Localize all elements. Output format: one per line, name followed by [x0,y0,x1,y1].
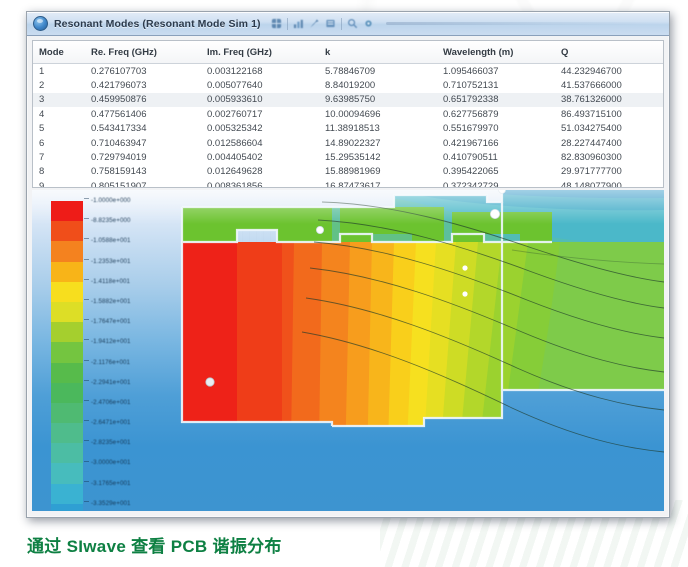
legend-tick [84,481,89,482]
legend-label: -3.1765e+001 [91,474,147,494]
table-row[interactable]: 70.7297940190.00440540215.295351420.4107… [33,150,664,164]
cell-re-freq: 0.459950876 [85,93,201,107]
legend-color-bar [51,201,83,511]
table-row[interactable]: 40.4775614060.00276071710.000946960.6277… [33,107,664,121]
table-row[interactable]: 10.2761077030.0031221685.788467091.09546… [33,64,664,79]
table-row[interactable]: 50.5434173340.00532534211.389185130.5516… [33,122,664,136]
window-title: Resonant Modes (Resonant Mode Sim 1) [54,18,261,30]
table-row[interactable]: 90.8051519070.00836185616.874736170.3723… [33,179,664,188]
cell-k: 15.88981969 [319,165,437,179]
legend-swatch [51,383,83,403]
cell-wavelength: 0.551679970 [437,122,555,136]
resonance-field-plot[interactable]: -1.0000e+000-8.8235e+000-1.0588e+001-1.2… [32,190,664,511]
cell-k: 11.38918513 [319,122,437,136]
cell-q: 48.148077900 [555,179,664,188]
cell-q: 41.537666000 [555,78,664,92]
cell-q: 86.493715100 [555,107,664,121]
table-body: 10.2761077030.0031221685.788467091.09546… [33,64,664,189]
window-titlebar[interactable]: Resonant Modes (Resonant Mode Sim 1) [27,12,669,36]
legend-swatch [51,282,83,302]
cell-q: 38.761326000 [555,93,664,107]
legend-label: -8.8235e+000 [91,211,147,231]
cell-re-freq: 0.276107703 [85,64,201,79]
column-header-q[interactable]: Q [555,41,664,64]
cell-k: 9.63985750 [319,93,437,107]
titlebar-toolbar[interactable] [271,18,374,30]
legend-tick [84,339,89,340]
legend-label: -2.2941e+001 [91,373,147,393]
legend-label: -1.4118e+001 [91,272,147,292]
legend-swatch [51,443,83,463]
legend-label: -1.2353e+001 [91,252,147,272]
legend-tick [84,461,89,462]
resonant-modes-window: Resonant Modes (Resonant Mode Sim 1) [26,11,670,518]
cell-k: 16.87473617 [319,179,437,188]
cell-k: 15.29535142 [319,150,437,164]
legend-swatch [51,302,83,322]
cell-im-freq: 0.004405402 [201,150,319,164]
figure-caption: 通过 SIwave 查看 PCB 谐振分布 [27,532,547,557]
legend-swatch [51,423,83,443]
cell-q: 82.830960300 [555,150,664,164]
cell-wavelength: 0.421967166 [437,136,555,150]
cell-q: 29.971777700 [555,165,664,179]
legend-label: -2.4706e+001 [91,393,147,413]
settings-icon[interactable] [363,18,374,29]
legend-tick [84,440,89,441]
cell-wavelength: 1.095466037 [437,64,555,79]
cell-k: 14.89022327 [319,136,437,150]
legend-swatch [51,484,83,504]
cell-wavelength: 0.627756879 [437,107,555,121]
legend-swatch [51,342,83,362]
legend-swatch [51,201,83,221]
cell-im-freq: 0.012649628 [201,165,319,179]
table-header-row: Mode Re. Freq (GHz) Im. Freq (GHz) k Wav… [33,41,664,64]
column-header-im-freq[interactable]: Im. Freq (GHz) [201,41,319,64]
cell-wavelength: 0.710752131 [437,78,555,92]
cell-mode: 6 [33,136,85,150]
column-header-wavelength[interactable]: Wavelength (m) [437,41,555,64]
legend-tick [84,319,89,320]
export-icon[interactable] [325,18,336,29]
toolbar-separator [287,18,288,30]
legend-label: -1.5882e+001 [91,292,147,312]
port-marker-1 [206,378,214,386]
legend-tick [84,380,89,381]
column-header-k[interactable]: k [319,41,437,64]
cell-re-freq: 0.477561406 [85,107,201,121]
legend-label: -3.0000e+001 [91,453,147,473]
cell-re-freq: 0.805151907 [85,179,201,188]
cell-q: 28.227447400 [555,136,664,150]
cell-re-freq: 0.758159143 [85,165,201,179]
cell-mode: 7 [33,150,85,164]
cell-mode: 2 [33,78,85,92]
legend-swatch [51,403,83,423]
table-row[interactable]: 30.4599508760.0059336109.639857500.65179… [33,93,664,107]
port-marker-6 [462,291,467,296]
legend-label: -1.0000e+000 [91,191,147,211]
legend-swatch [51,463,83,483]
legend-label-column: -1.0000e+000-8.8235e+000-1.0588e+001-1.2… [91,191,147,511]
cell-wavelength: 0.372342729 [437,179,555,188]
cell-mode: 8 [33,165,85,179]
legend-tick [84,279,89,280]
resonant-modes-table-container[interactable]: Mode Re. Freq (GHz) Im. Freq (GHz) k Wav… [32,40,664,188]
cell-k: 8.84019200 [319,78,437,92]
cell-mode: 4 [33,107,85,121]
legend-label: -1.0588e+001 [91,231,147,251]
legend-tick [84,259,89,260]
table-row[interactable]: 80.7581591430.01264962815.889819690.3954… [33,165,664,179]
legend-swatch [51,221,83,241]
legend-swatch [51,241,83,261]
cell-q: 51.034275400 [555,122,664,136]
cell-mode: 3 [33,93,85,107]
legend-label: -2.6471e+001 [91,413,147,433]
cell-im-freq: 0.005325342 [201,122,319,136]
cell-im-freq: 0.002760717 [201,107,319,121]
cell-wavelength: 0.410790511 [437,150,555,164]
cell-mode: 5 [33,122,85,136]
cell-im-freq: 0.008361856 [201,179,319,188]
cell-re-freq: 0.729794019 [85,150,201,164]
port-marker-5 [462,265,467,270]
legend-swatch [51,363,83,383]
window-app-icon [33,16,48,31]
cell-re-freq: 0.710463947 [85,136,201,150]
table-row[interactable]: 20.4217960730.0050776408.840192000.71075… [33,78,664,92]
chart-icon[interactable] [293,18,304,29]
port-marker-2 [316,226,323,233]
cell-q: 44.232946700 [555,64,664,79]
cell-mode: 9 [33,179,85,188]
legend-tick [84,238,89,239]
legend-label: -1.9412e+001 [91,332,147,352]
legend-swatch [51,504,83,511]
cell-wavelength: 0.395422065 [437,165,555,179]
screenshot-root: Resonant Modes (Resonant Mode Sim 1) [0,0,688,567]
legend-tick [84,198,89,199]
cell-k: 10.00094696 [319,107,437,121]
pin-icon[interactable] [309,18,320,29]
cell-wavelength: 0.651792338 [437,93,555,107]
cell-re-freq: 0.543417334 [85,122,201,136]
legend-tick [84,299,89,300]
legend-label: -2.8235e+001 [91,433,147,453]
legend-tick [84,420,89,421]
legend-tick [84,360,89,361]
cell-im-freq: 0.003122168 [201,64,319,79]
cell-k: 5.78846709 [319,64,437,79]
color-scale-legend[interactable]: -1.0000e+000-8.8235e+000-1.0588e+001-1.2… [51,195,147,507]
legend-tick [84,218,89,219]
zoom-icon[interactable] [347,18,358,29]
table-row[interactable]: 60.7104639470.01258660414.890223270.4219… [33,136,664,150]
cell-im-freq: 0.012586604 [201,136,319,150]
toolbar-separator [341,18,342,30]
column-header-mode[interactable]: Mode [33,41,85,64]
legend-swatch [51,262,83,282]
cell-re-freq: 0.421796073 [85,78,201,92]
resonant-modes-table: Mode Re. Freq (GHz) Im. Freq (GHz) k Wav… [33,41,664,188]
cell-im-freq: 0.005077640 [201,78,319,92]
titlebar-filler [386,22,661,25]
legend-label: -1.7647e+001 [91,312,147,332]
column-header-re-freq[interactable]: Re. Freq (GHz) [85,41,201,64]
cell-mode: 1 [33,64,85,79]
grid-icon[interactable] [271,18,282,29]
legend-tick [84,501,89,502]
legend-swatch [51,322,83,342]
legend-tick [84,400,89,401]
legend-label: -2.1176e+001 [91,353,147,373]
legend-label: -3.3529e+001 [91,494,147,511]
cell-im-freq: 0.005933610 [201,93,319,107]
